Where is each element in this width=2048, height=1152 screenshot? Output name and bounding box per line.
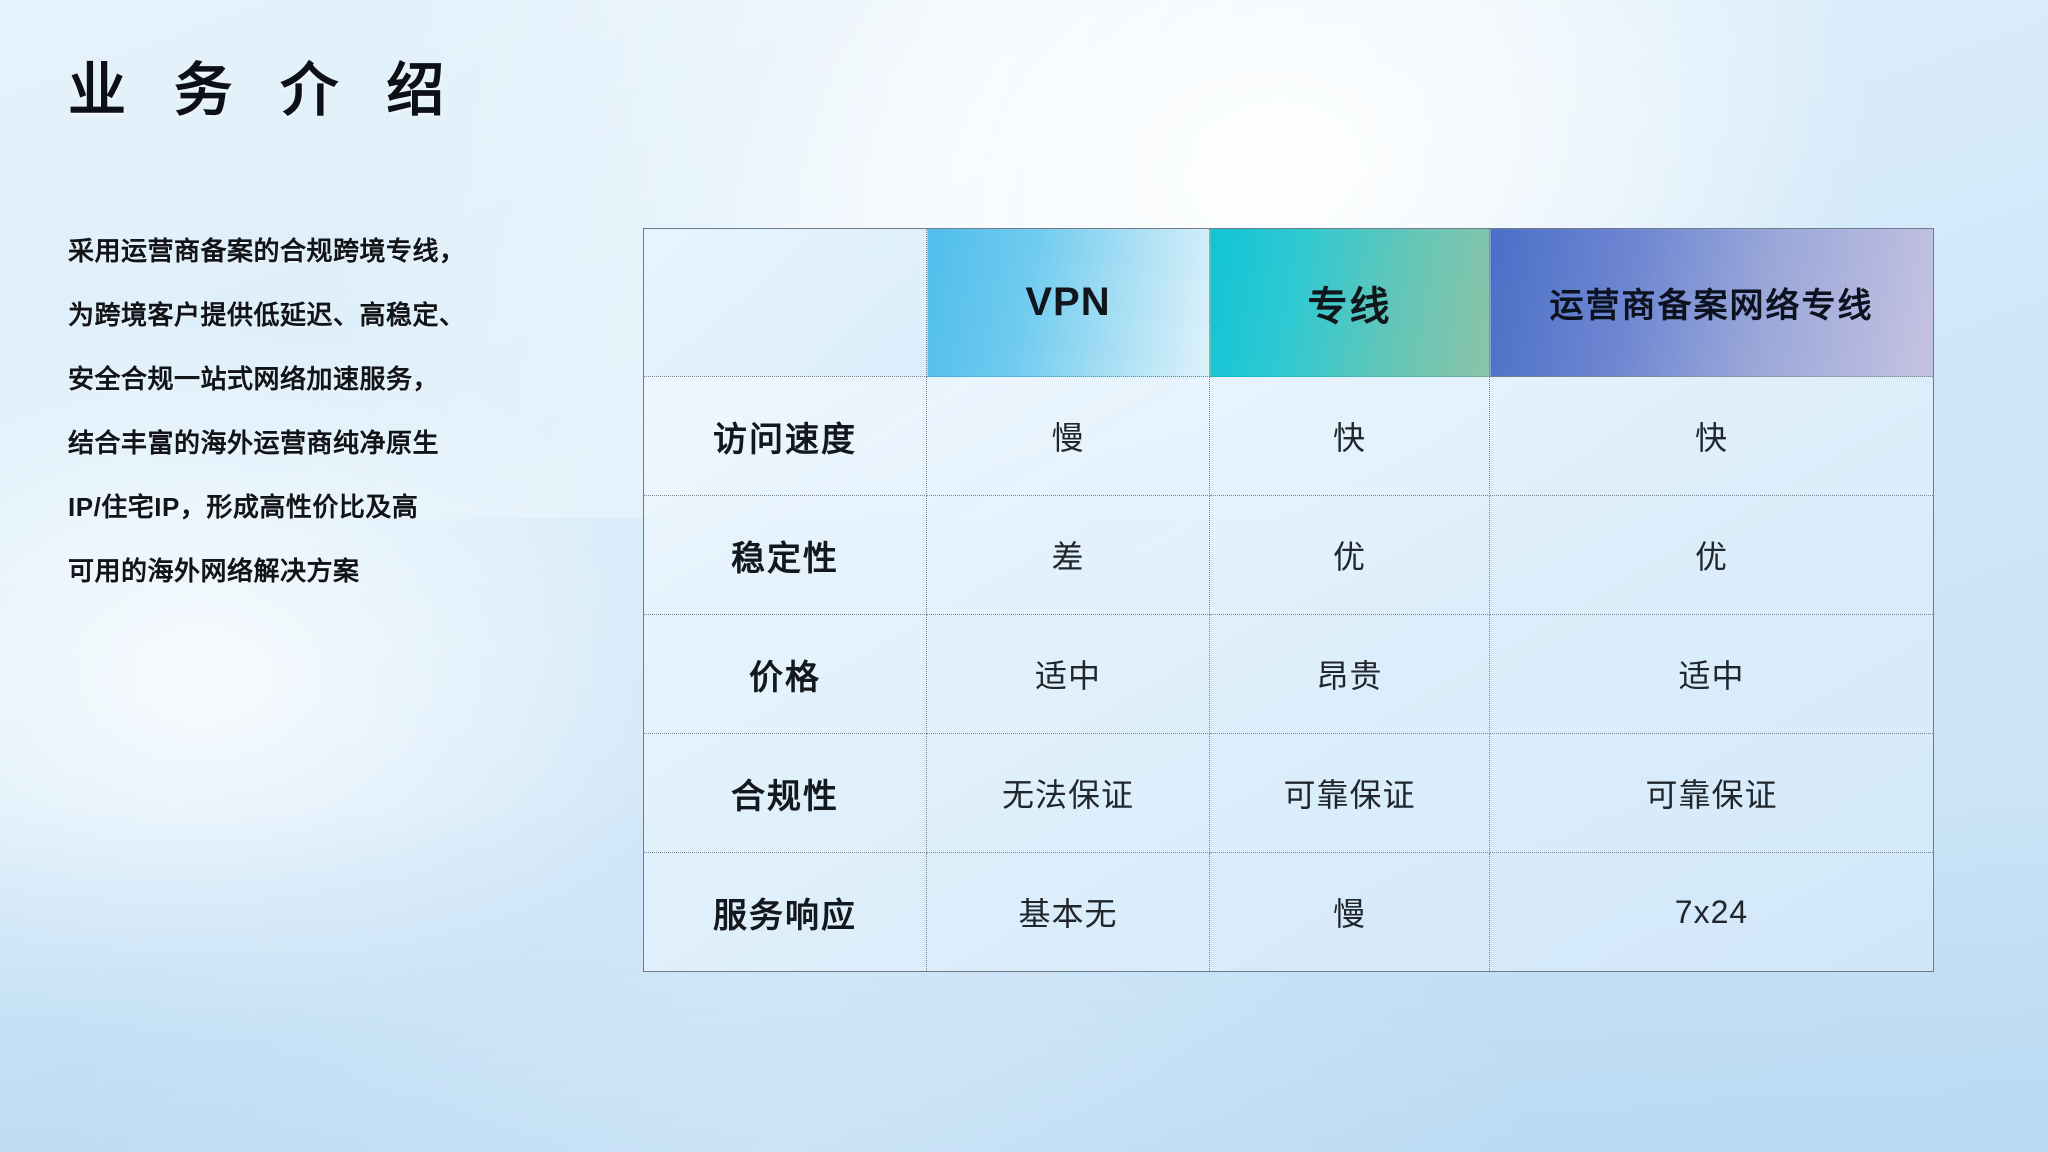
- table-row: 价格 适中 昂贵 适中: [644, 615, 1934, 734]
- cell-vpn-service-response: 基本无: [927, 853, 1210, 972]
- slide-canvas: 业 务 介 绍 采用运营商备案的合规跨境专线， 为跨境客户提供低延迟、高稳定、 …: [0, 0, 2048, 1152]
- row-label-compliance: 合规性: [644, 734, 927, 853]
- description-line: 安全合规一站式网络加速服务，: [68, 366, 628, 392]
- row-label-access-speed: 访问速度: [644, 377, 927, 496]
- cell-line-price: 昂贵: [1210, 615, 1490, 734]
- table-header-carrier-line: 运营商备案网络专线: [1490, 229, 1934, 377]
- table-row: 稳定性 差 优 优: [644, 496, 1934, 615]
- table-row: 合规性 无法保证 可靠保证 可靠保证: [644, 734, 1934, 853]
- table-header-blank: [644, 229, 927, 377]
- page-title: 业 务 介 绍: [68, 58, 460, 125]
- row-label-stability: 稳定性: [644, 496, 927, 615]
- cell-line-compliance: 可靠保证: [1210, 734, 1490, 853]
- cell-vpn-stability: 差: [927, 496, 1210, 615]
- cell-carrier-service-response: 7x24: [1490, 853, 1934, 972]
- cell-line-stability: 优: [1210, 496, 1490, 615]
- description-line: 为跨境客户提供低延迟、高稳定、: [68, 302, 628, 328]
- comparison-table-container: VPN 专线 运营商备案网络专线 访问速度 慢 快 快 稳定性 差 优 优: [643, 228, 1933, 972]
- cell-carrier-stability: 优: [1490, 496, 1934, 615]
- table-header-vpn: VPN: [927, 229, 1210, 377]
- row-label-price: 价格: [644, 615, 927, 734]
- comparison-table: VPN 专线 运营商备案网络专线 访问速度 慢 快 快 稳定性 差 优 优: [643, 228, 1934, 972]
- table-header-row: VPN 专线 运营商备案网络专线: [644, 229, 1934, 377]
- cell-carrier-price: 适中: [1490, 615, 1934, 734]
- cell-line-service-response: 慢: [1210, 853, 1490, 972]
- cell-vpn-compliance: 无法保证: [927, 734, 1210, 853]
- cell-vpn-price: 适中: [927, 615, 1210, 734]
- description-line: 结合丰富的海外运营商纯净原生: [68, 430, 628, 456]
- table-row: 服务响应 基本无 慢 7x24: [644, 853, 1934, 972]
- description-line: 采用运营商备案的合规跨境专线，: [68, 238, 628, 264]
- table-header-dedicated-line: 专线: [1210, 229, 1490, 377]
- table-row: 访问速度 慢 快 快: [644, 377, 1934, 496]
- description-line: IP/住宅IP，形成高性价比及高: [68, 494, 628, 520]
- cell-vpn-access-speed: 慢: [927, 377, 1210, 496]
- cell-line-access-speed: 快: [1210, 377, 1490, 496]
- cell-carrier-access-speed: 快: [1490, 377, 1934, 496]
- row-label-service-response: 服务响应: [644, 853, 927, 972]
- table-body: 访问速度 慢 快 快 稳定性 差 优 优 价格 适中 昂贵 适中: [644, 377, 1934, 972]
- table-header: VPN 专线 运营商备案网络专线: [644, 229, 1934, 377]
- description-line: 可用的海外网络解决方案: [68, 558, 628, 584]
- description-block: 采用运营商备案的合规跨境专线， 为跨境客户提供低延迟、高稳定、 安全合规一站式网…: [68, 238, 628, 584]
- cell-carrier-compliance: 可靠保证: [1490, 734, 1934, 853]
